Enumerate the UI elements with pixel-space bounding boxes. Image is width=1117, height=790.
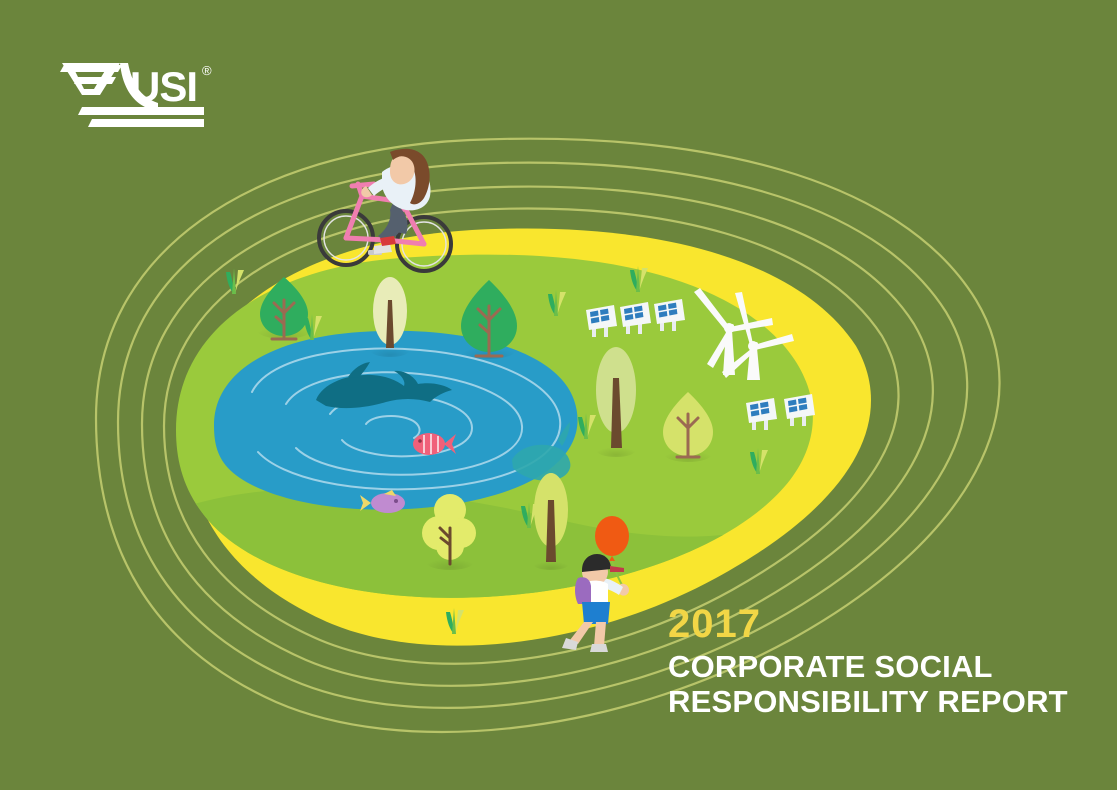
usi-wordmark: USI — [130, 63, 197, 110]
report-year: 2017 — [668, 604, 1088, 644]
balloon-icon — [595, 516, 629, 556]
registered-trademark-symbol: ® — [202, 63, 212, 78]
blue-lake — [214, 331, 578, 510]
cover-title-block: 2017 CORPORATE SOCIAL RESPONSIBILITY REP… — [668, 604, 1088, 719]
usi-logo[interactable]: USI ® — [58, 55, 218, 135]
report-cover-page: USI ® 2017 CORPORATE SOCIAL RESPONSIBILI… — [0, 0, 1117, 790]
report-title: CORPORATE SOCIAL RESPONSIBILITY REPORT — [668, 650, 1088, 719]
